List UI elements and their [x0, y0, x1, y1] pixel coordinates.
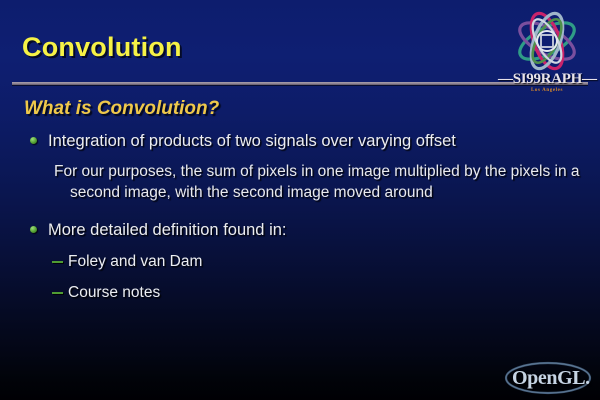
- siggraph-dash-left: —: [498, 71, 513, 87]
- slide-canvas: Convolution —SI99RAPH— Los Angeles What …: [0, 0, 600, 400]
- bullet-item: More detailed definition found in:: [0, 219, 600, 241]
- siggraph-logo: —SI99RAPH— Los Angeles: [498, 8, 596, 100]
- siggraph-city-label: Los Angeles: [498, 88, 596, 93]
- siggraph-wordmark-text: SI99RAPH: [513, 71, 582, 87]
- siggraph-wordmark: —SI99RAPH—: [498, 72, 596, 87]
- sub-bullet-item: Foley and van Dam: [0, 251, 600, 272]
- sub-bullet-text: Foley and van Dam: [68, 253, 202, 270]
- dash-bullet-icon: [52, 261, 63, 263]
- page-title: Convolution: [22, 32, 182, 63]
- slide-subtitle: What is Convolution?: [24, 98, 219, 120]
- bullet-item: Integration of products of two signals o…: [0, 130, 600, 152]
- sub-bullet-item: Course notes: [0, 282, 600, 303]
- bullet-text: More detailed definition found in:: [48, 221, 287, 239]
- siggraph-dash-right: —: [582, 71, 597, 87]
- opengl-logo: OpenGL.: [504, 358, 600, 398]
- round-bullet-icon: [30, 137, 37, 144]
- sub-bullet-text: Course notes: [68, 284, 160, 301]
- bullet-text: Integration of products of two signals o…: [48, 132, 456, 150]
- dash-bullet-icon: [52, 292, 63, 294]
- opengl-wordmark: OpenGL.: [504, 358, 600, 398]
- body-paragraph: For our purposes, the sum of pixels in o…: [54, 161, 582, 203]
- slide-body: Integration of products of two signals o…: [0, 130, 600, 303]
- round-bullet-icon: [30, 226, 37, 233]
- siggraph-rings-icon: [502, 8, 592, 74]
